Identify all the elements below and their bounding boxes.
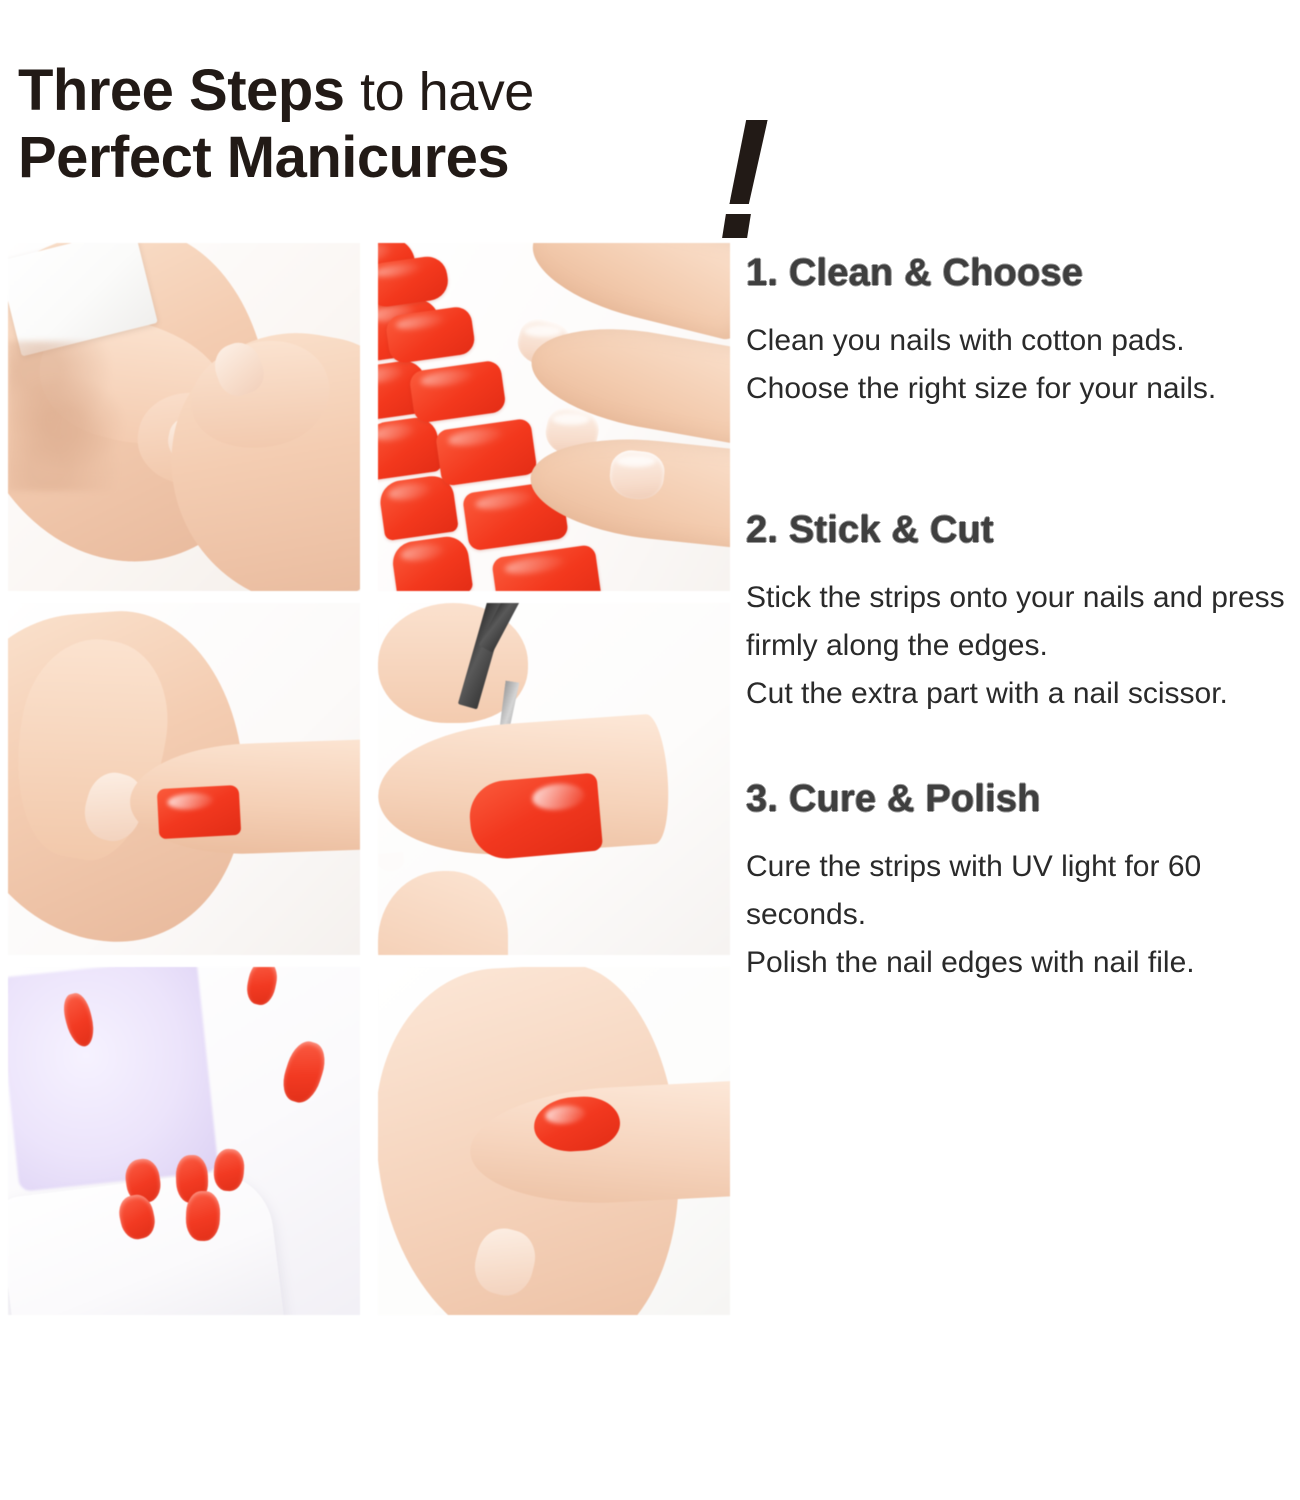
supporting-hand [378, 871, 508, 955]
step-1-body: Clean you nails with cotton pads.Choose … [746, 317, 1296, 413]
title-bold-1: Three Steps [18, 58, 345, 123]
palm-creases [8, 341, 168, 491]
red-nail-upper-right-2 [277, 1037, 330, 1107]
red-nail-strip-applied [467, 772, 603, 861]
step-3: 3. Cure & Polish Cure the strips with UV… [746, 778, 1296, 987]
lunula-2 [552, 413, 590, 425]
photo-clean-with-cotton-pad [8, 243, 360, 591]
photo-polish-edges-with-file [378, 967, 730, 1315]
strip-b1 [378, 254, 450, 309]
exclamation-mark-icon [718, 120, 780, 242]
exclamation-dot [722, 214, 751, 238]
lunula-3 [616, 455, 656, 467]
step-3-body: Cure the strips with UV light for 60 sec… [746, 843, 1296, 987]
exclamation-bar [729, 120, 767, 204]
step-2: 2. Stick & Cut Stick the strips onto you… [746, 509, 1296, 718]
strip-a4 [378, 415, 442, 480]
photo-strip-sheet-choose-size [378, 243, 730, 591]
title-light-1: to have [360, 62, 534, 122]
strip-b2 [384, 305, 476, 365]
lunula-1 [524, 325, 562, 337]
step-photo-grid [8, 243, 730, 1353]
cut-notch [378, 852, 405, 872]
red-nail-upper-right-1 [244, 967, 281, 1007]
step-3-heading: 3. Cure & Polish [746, 778, 1296, 821]
title-bold-2: Perfect Manicures [18, 125, 509, 190]
page-title: Three Steps to have Perfect Manicures [18, 58, 798, 203]
cured-nail-5 [185, 1190, 221, 1241]
photo-stick-strip-on-nail [8, 603, 360, 955]
steps-text-column: 1. Clean & Choose Clean you nails with c… [746, 252, 1296, 1025]
photo-cut-excess-with-scissors [378, 603, 730, 955]
step-2-body: Stick the strips onto your nails and pre… [746, 574, 1296, 718]
photo-cure-under-uv-lamp [8, 967, 360, 1315]
step-1-heading: 1. Clean & Choose [746, 252, 1296, 295]
step-2-heading: 2. Stick & Cut [746, 509, 1296, 552]
strip-a6 [390, 534, 473, 591]
strip-b3 [408, 359, 506, 423]
step-1: 1. Clean & Choose Clean you nails with c… [746, 252, 1296, 413]
applied-red-strip [157, 785, 242, 839]
title-line-1: Three Steps to have [18, 58, 798, 125]
strip-b6 [491, 544, 602, 591]
title-line-2: Perfect Manicures [18, 125, 798, 191]
strip-b4 [435, 418, 538, 487]
